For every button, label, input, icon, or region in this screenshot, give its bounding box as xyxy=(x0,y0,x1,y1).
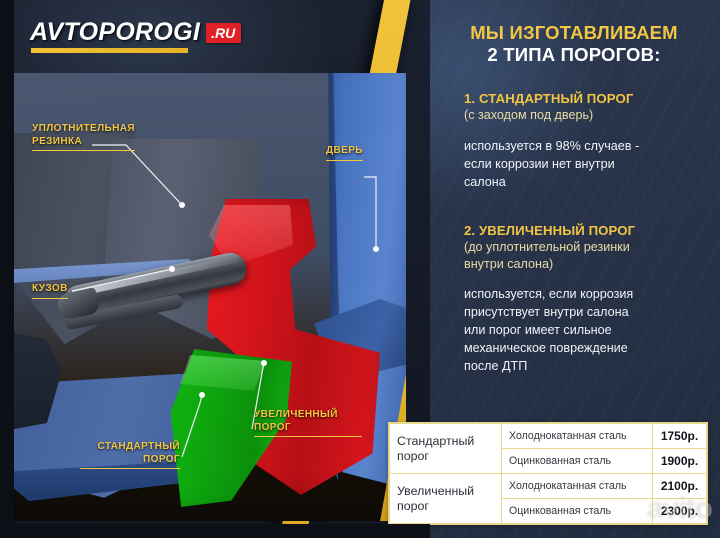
leader-dot-door xyxy=(373,246,379,252)
price-value-extended-galv: 2300р. xyxy=(653,499,707,524)
sill-diagram: УПЛОТНИТЕЛЬНАЯ РЕЗИНКА КУЗОВ ДВЕРЬ СТАНД… xyxy=(14,73,406,521)
table-row: Стандартный порог Холоднокатанная сталь … xyxy=(390,424,707,449)
brand-underline xyxy=(31,48,188,53)
leader-dot-extended xyxy=(261,360,267,366)
brand-logo: AVTOPOROGI .RU xyxy=(30,20,241,45)
headline-line-1: МЫ ИЗГОТАВЛИВАЕМ xyxy=(438,22,710,44)
leader-line-door xyxy=(364,177,376,249)
leader-dot-seal xyxy=(179,202,185,208)
sill-type-block-standard: 1. СТАНДАРТНЫЙ ПОРОГ (с заходом под двер… xyxy=(464,90,716,191)
callout-label-seal: УПЛОТНИТЕЛЬНАЯ РЕЗИНКА xyxy=(32,123,135,151)
price-value-standard-cold: 1750р. xyxy=(653,424,707,449)
callout-label-door: ДВЕРЬ xyxy=(326,145,363,161)
price-steel-standard-cold: Холоднокатанная сталь xyxy=(502,424,653,449)
block-title-extended: 2. УВЕЛИЧЕННЫЙ ПОРОГ xyxy=(464,222,716,239)
price-type-extended: Увеличенный порог xyxy=(390,474,502,524)
leader-dot-body xyxy=(169,266,175,272)
table-row: Увеличенный порог Холоднокатанная сталь … xyxy=(390,474,707,499)
block-title-standard: 1. СТАНДАРТНЫЙ ПОРОГ xyxy=(464,90,716,107)
leader-dot-standard xyxy=(199,392,205,398)
leader-line-body xyxy=(72,269,172,291)
leader-line-standard xyxy=(182,395,202,457)
leader-line-seal xyxy=(92,145,182,205)
headline-line-2: 2 ТИПА ПОРОГОВ: xyxy=(438,44,710,66)
brand-domain-badge: .RU xyxy=(206,23,241,43)
price-steel-extended-cold: Холоднокатанная сталь xyxy=(502,474,653,499)
callout-label-extended: УВЕЛИЧЕННЫЙ ПОРОГ xyxy=(254,409,362,437)
callout-label-body: КУЗОВ xyxy=(32,283,68,299)
callout-label-standard: СТАНДАРТНЫЙ ПОРОГ xyxy=(80,441,180,469)
brand-wordmark: AVTOPOROGI xyxy=(30,20,200,45)
block-body-standard: используется в 98% случаев - если корроз… xyxy=(464,138,716,192)
price-value-extended-cold: 2100р. xyxy=(653,474,707,499)
sill-type-block-extended: 2. УВЕЛИЧЕННЫЙ ПОРОГ (до уплотнительной … xyxy=(464,222,716,376)
price-steel-extended-galv: Оцинкованная сталь xyxy=(502,499,653,524)
headline: МЫ ИЗГОТАВЛИВАЕМ 2 ТИПА ПОРОГОВ: xyxy=(438,22,710,66)
block-subtitle-extended: (до уплотнительной резинки внутри салона… xyxy=(464,239,716,272)
price-table: Стандартный порог Холоднокатанная сталь … xyxy=(388,422,708,525)
price-value-standard-galv: 1900р. xyxy=(653,449,707,474)
block-subtitle-standard: (с заходом под дверь) xyxy=(464,107,716,124)
bottom-edge-bar xyxy=(0,524,430,538)
price-type-standard: Стандартный порог xyxy=(390,424,502,474)
price-steel-standard-galv: Оцинкованная сталь xyxy=(502,449,653,474)
left-edge-bar xyxy=(0,0,14,538)
block-body-extended: используется, если коррозия присутствует… xyxy=(464,286,716,375)
promo-banner: AVTOPOROGI .RU xyxy=(0,0,720,538)
